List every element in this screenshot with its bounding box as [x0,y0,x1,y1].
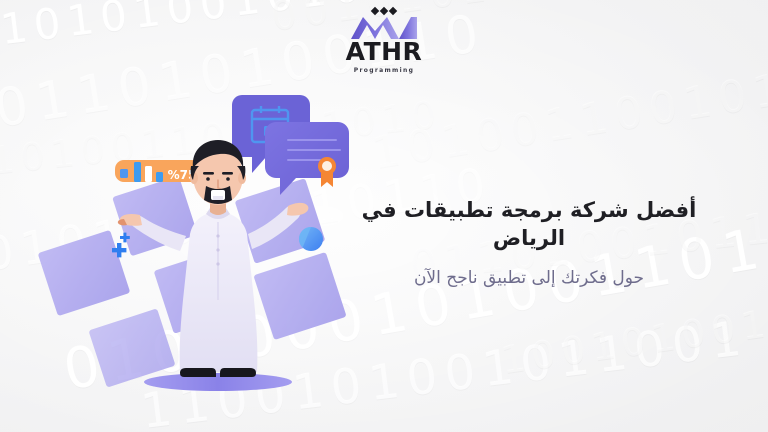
logo-tagline: Programming [324,67,444,74]
athr-logo[interactable]: ATHR Programming [324,8,444,74]
diamond-icon [389,7,397,15]
diamond-icon [371,7,379,15]
character-shadow [144,373,292,391]
page-title: أفضل شركة برمجة تطبيقات في الرياض [326,196,732,253]
hero-illustration: %75 [0,0,380,432]
diamond-icon [380,7,388,15]
promo-banner: 01010101001010010 110011010100110 010100… [0,0,768,432]
logo-wordmark: ATHR [324,39,444,64]
speech-bubble-message [265,122,349,195]
page-subtitle: حول فكرتك إلى تطبيق ناجح الآن [326,267,732,291]
blue-sphere [299,227,323,251]
copy-block: أفضل شركة برمجة تطبيقات في الرياض حول فك… [326,196,732,290]
award-ribbon-icon [318,157,336,187]
logo-diamond-icons [324,8,444,14]
